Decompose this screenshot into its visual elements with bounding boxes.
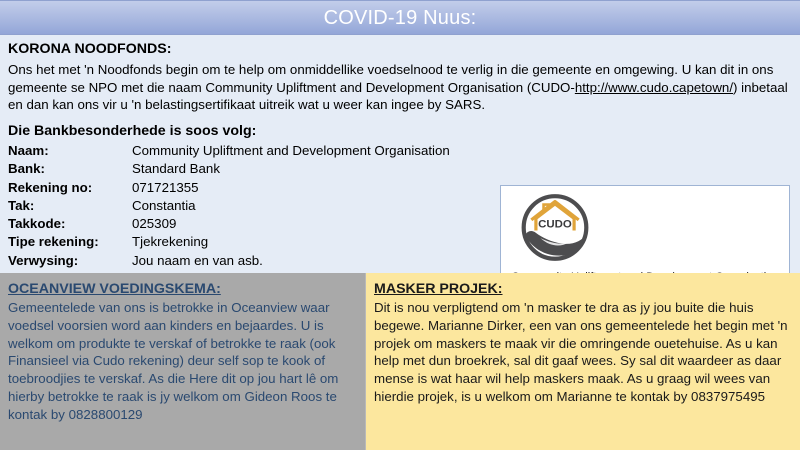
slide-canvas: COVID-19 Nuus: KORONA NOODFONDS: Ons het… — [0, 0, 800, 450]
bank-detail-label: Tipe rekening: — [8, 233, 132, 251]
bank-details-table: Naam: Community Upliftment and Developme… — [8, 142, 450, 270]
main-content-area: KORONA NOODFONDS: Ons het met 'n Noodfon… — [0, 35, 800, 273]
panel-masker-projek: MASKER PROJEK: Dit is nou verpligtend om… — [365, 273, 800, 450]
bank-detail-value: 071721355 — [132, 179, 450, 197]
masker-projek-body-text: Dit is nou verpligtend om 'n masker te d… — [374, 299, 792, 406]
bank-detail-label: Rekening no: — [8, 179, 132, 197]
oceanview-heading: OCEANVIEW VOEDINGSKEMA: — [8, 280, 357, 298]
table-row: Bank: Standard Bank — [8, 160, 450, 178]
korona-noodfonds-paragraph: Ons het met 'n Noodfonds begin om te hel… — [8, 61, 794, 114]
cudo-website-link[interactable]: http://www.cudo.capetown/ — [575, 80, 733, 95]
cudo-logo-icon: CUDO — [513, 190, 597, 268]
table-row: Verwysing: Jou naam en van asb. — [8, 252, 450, 270]
korona-noodfonds-heading: KORONA NOODFONDS: — [8, 41, 171, 59]
header-banner: COVID-19 Nuus: — [0, 0, 800, 35]
panel-oceanview-voedingskema: OCEANVIEW VOEDINGSKEMA: Gemeentelede van… — [0, 273, 365, 450]
bank-detail-label: Tak: — [8, 197, 132, 215]
bank-detail-value: Community Upliftment and Development Org… — [132, 142, 450, 160]
table-row: Takkode: 025309 — [8, 215, 450, 233]
oceanview-body-text: Gemeentelede van ons is betrokke in Ocea… — [8, 299, 357, 424]
table-row: Tak: Constantia — [8, 197, 450, 215]
page-title: COVID-19 Nuus: — [324, 8, 477, 28]
table-row: Rekening no: 071721355 — [8, 179, 450, 197]
bank-detail-label: Bank: — [8, 160, 132, 178]
bank-detail-label: Takkode: — [8, 215, 132, 233]
cudo-logo-text: CUDO — [538, 218, 572, 230]
bank-detail-value: Jou naam en van asb. — [132, 252, 450, 270]
masker-projek-heading: MASKER PROJEK: — [374, 280, 792, 298]
bank-detail-value: Tjekrekening — [132, 233, 450, 251]
table-row: Tipe rekening: Tjekrekening — [8, 233, 450, 251]
bank-details-heading: Die Bankbesonderhede is soos volg: — [8, 123, 256, 141]
bank-detail-value: Constantia — [132, 197, 450, 215]
bank-detail-value: 025309 — [132, 215, 450, 233]
bank-detail-label: Naam: — [8, 142, 132, 160]
bank-detail-value: Standard Bank — [132, 160, 450, 178]
bank-detail-label: Verwysing: — [8, 252, 132, 270]
table-row: Naam: Community Upliftment and Developme… — [8, 142, 450, 160]
